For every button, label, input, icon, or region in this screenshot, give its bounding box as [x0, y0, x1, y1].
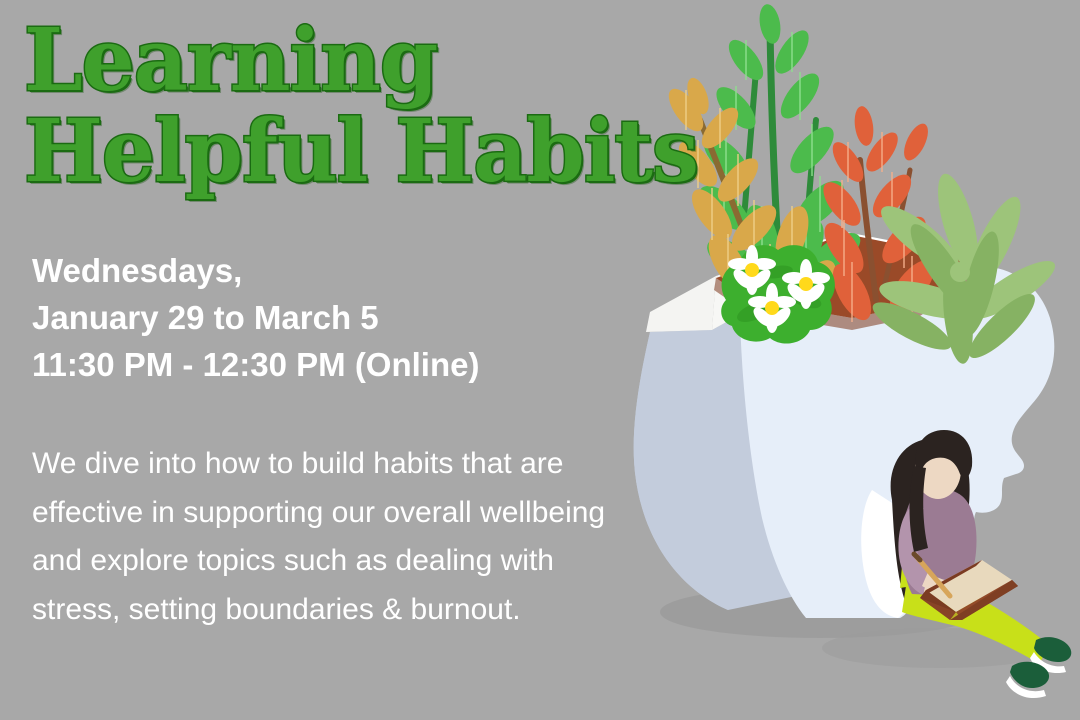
poster-title: Learning Helpful Habits	[24, 18, 654, 194]
schedule-time: 11:30 PM - 12:30 PM (Online)	[32, 342, 632, 389]
schedule-dates: January 29 to March 5	[32, 295, 632, 342]
plant-group	[662, 3, 1061, 366]
title-line-1: Learning	[24, 18, 635, 103]
text-column: Learning Helpful Habits Wednesdays, Janu…	[0, 0, 660, 720]
schedule-day: Wednesdays,	[32, 248, 632, 295]
schedule-block: Wednesdays, January 29 to March 5 11:30 …	[32, 248, 632, 389]
description-text: We dive into how to build habits that ar…	[32, 440, 622, 634]
title-line-2: Helpful Habits	[24, 109, 635, 194]
description-block: We dive into how to build habits that ar…	[32, 440, 622, 634]
poster-canvas: Learning Helpful Habits Wednesdays, Janu…	[0, 0, 1080, 720]
